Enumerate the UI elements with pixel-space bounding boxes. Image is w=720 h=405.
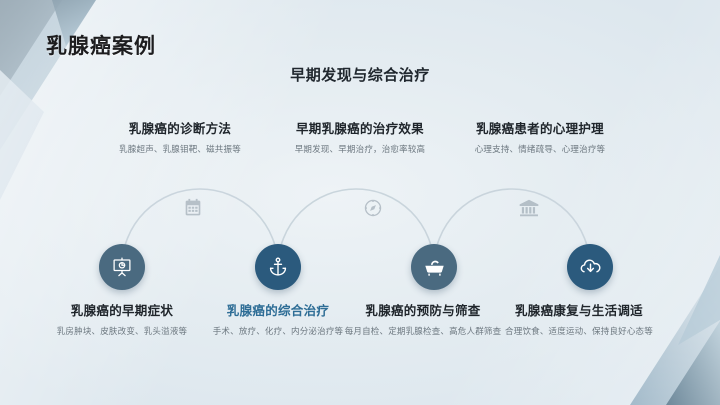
bottom-block-3-desc: 每月自检、定期乳腺检查、高危人群筛查 <box>338 325 508 338</box>
node-1[interactable] <box>99 244 145 290</box>
page-title: 乳腺癌案例 <box>46 30 156 60</box>
bottom-block-3: 乳腺癌的预防与筛查 每月自检、定期乳腺检查、高危人群筛查 <box>338 300 508 338</box>
calendar-icon <box>182 197 204 224</box>
bottom-block-4-title: 乳腺癌康复与生活调适 <box>494 300 664 319</box>
node-3[interactable] <box>411 244 457 290</box>
node-4[interactable] <box>567 244 613 290</box>
top-block-2: 早期乳腺癌的治疗效果 早期发现、早期治疗，治愈率较高 <box>260 118 460 155</box>
top-block-3: 乳腺癌患者的心理护理 心理支持、情绪疏导、心理治疗等 <box>440 118 640 155</box>
top-block-1: 乳腺癌的诊断方法 乳腺超声、乳腺钼靶、磁共振等 <box>80 118 280 155</box>
bank-icon <box>518 197 540 224</box>
bottom-block-3-title: 乳腺癌的预防与筛查 <box>338 300 508 319</box>
node-2[interactable] <box>255 244 301 290</box>
compass-icon <box>362 197 384 224</box>
connector-arcs <box>0 0 720 405</box>
top-block-1-title: 乳腺癌的诊断方法 <box>80 118 280 137</box>
top-block-2-desc: 早期发现、早期治疗，治愈率较高 <box>260 143 460 155</box>
slide-subtitle: 早期发现与综合治疗 <box>0 64 720 85</box>
top-block-2-title: 早期乳腺癌的治疗效果 <box>260 118 460 137</box>
bottom-block-4: 乳腺癌康复与生活调适 合理饮食、适度运动、保持良好心态等 <box>494 300 664 338</box>
top-block-1-desc: 乳腺超声、乳腺钼靶、磁共振等 <box>80 143 280 155</box>
bottom-block-4-desc: 合理饮食、适度运动、保持良好心态等 <box>494 325 664 338</box>
slide-canvas: 乳腺癌案例 早期发现与综合治疗 乳腺癌的诊断方法 乳腺超声、乳腺钼靶、磁共振等 … <box>0 0 720 405</box>
top-block-3-title: 乳腺癌患者的心理护理 <box>440 118 640 137</box>
top-block-3-desc: 心理支持、情绪疏导、心理治疗等 <box>440 143 640 155</box>
